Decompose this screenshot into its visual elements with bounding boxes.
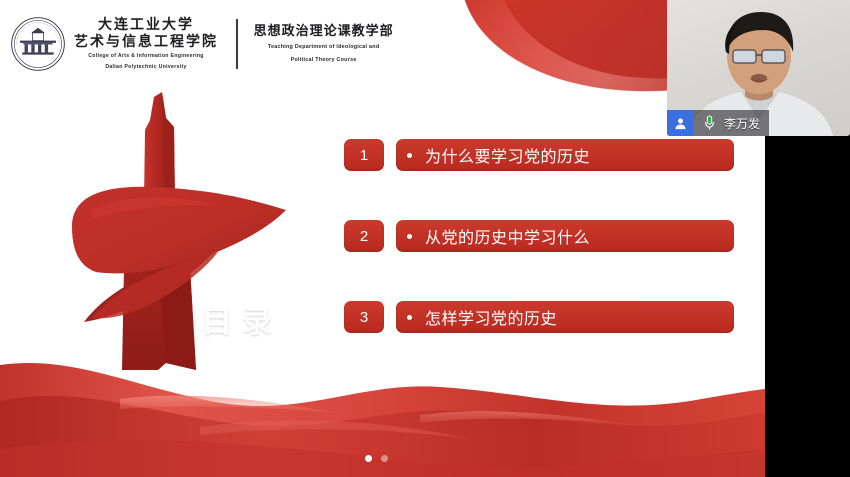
department-name-cn: 思想政治理论课教学部	[254, 24, 394, 40]
microphone-icon[interactable]	[700, 115, 718, 131]
toc-item-label: 为什么要学习党的历史	[425, 143, 590, 167]
slide-title: 目录	[202, 297, 282, 341]
participant-name-bar: 李万发	[667, 110, 769, 136]
screen-share-view: 大连工业大学 艺术与信息工程学院 College of Arts & Infor…	[0, 0, 850, 477]
university-name-block: 大连工业大学 艺术与信息工程学院 College of Arts & Infor…	[74, 17, 218, 72]
department-name-en-line1: Teaching Department of Ideological and	[268, 43, 380, 52]
slide-header: 大连工业大学 艺术与信息工程学院 College of Arts & Infor…	[0, 6, 520, 82]
toc-item-label: 从党的历史中学习什么	[425, 224, 590, 248]
department-name-en-line2: Political Theory Course	[291, 56, 357, 65]
person-icon	[667, 110, 693, 136]
bullet-icon	[407, 315, 412, 320]
toc-row[interactable]: 1 为什么要学习党的历史	[344, 139, 734, 171]
monument-graphic: 目录	[62, 82, 342, 382]
pager-dot-active[interactable]	[365, 455, 372, 462]
toc-item-label: 怎样学习党的历史	[425, 305, 557, 329]
toc-number-badge: 1	[344, 139, 384, 171]
participant-video-tile[interactable]: 李万发	[667, 0, 850, 136]
table-of-contents: 1 为什么要学习党的历史 2 从党的历史中学习什么 3 怎样学习党的历史	[344, 139, 734, 333]
toc-item-bar[interactable]: 怎样学习党的历史	[396, 301, 734, 333]
university-name-en-line2: Dalian Polytechnic University	[105, 64, 186, 72]
toc-number-badge: 3	[344, 301, 384, 333]
toc-row[interactable]: 3 怎样学习党的历史	[344, 301, 734, 333]
participant-name-label: 李万发	[724, 115, 760, 132]
presentation-slide: 大连工业大学 艺术与信息工程学院 College of Arts & Infor…	[0, 0, 765, 477]
toc-item-bar[interactable]: 从党的历史中学习什么	[396, 220, 734, 252]
toc-number-badge: 2	[344, 220, 384, 252]
university-name-cn-line2: 艺术与信息工程学院	[74, 34, 218, 50]
header-divider	[236, 19, 238, 69]
university-crest-icon	[10, 16, 66, 72]
toc-item-bar[interactable]: 为什么要学习党的历史	[396, 139, 734, 171]
toc-row[interactable]: 2 从党的历史中学习什么	[344, 220, 734, 252]
slide-pager[interactable]	[365, 455, 388, 462]
university-name-cn-line1: 大连工业大学	[98, 17, 194, 33]
pager-dot[interactable]	[381, 455, 388, 462]
university-name-en-line1: College of Arts & Information Engineerin…	[88, 53, 204, 61]
bullet-icon	[407, 153, 412, 158]
bullet-icon	[407, 234, 412, 239]
department-name-block: 思想政治理论课教学部 Teaching Department of Ideolo…	[254, 24, 394, 65]
